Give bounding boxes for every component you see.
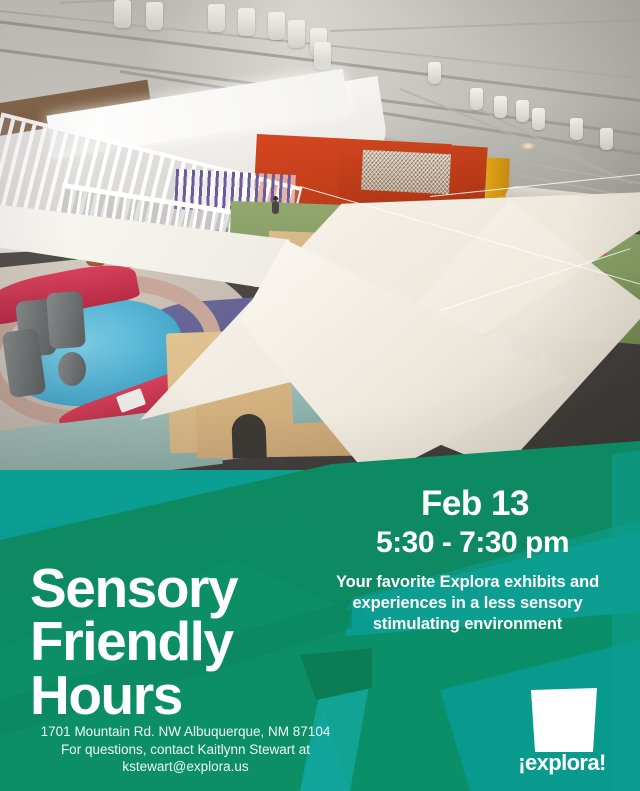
headline-line-3: Hours <box>30 669 330 722</box>
explora-logo[interactable]: ¡explora! <box>497 688 627 780</box>
explora-wordmark: ¡explora! <box>497 750 627 776</box>
hands-and-star-icon <box>497 688 627 754</box>
headline-line-1: Sensory <box>30 562 330 615</box>
event-description: Your favorite Explora exhibits and exper… <box>310 572 625 635</box>
venue-address: 1701 Mountain Rd. NW Albuquerque, NM 871… <box>8 723 363 741</box>
description-line-2: experiences in a less sensory <box>310 593 625 614</box>
contact-email[interactable]: kstewart@explora.us <box>8 758 363 776</box>
headline-line-2: Friendly <box>30 615 330 668</box>
description-line-1: Your favorite Explora exhibits and <box>310 572 625 593</box>
event-time: 5:30 - 7:30 pm <box>320 525 625 561</box>
poster-content: Sensory Friendly Hours Feb 13 5:30 - 7:3… <box>0 0 640 791</box>
page-title: Sensory Friendly Hours <box>30 562 330 722</box>
event-date: Feb 13 <box>330 484 620 524</box>
contact-block: 1701 Mountain Rd. NW Albuquerque, NM 871… <box>8 723 363 776</box>
description-line-3: stimulating environment <box>310 614 625 635</box>
contact-question-line: For questions, contact Kaitlynn Stewart … <box>8 741 363 759</box>
sensory-friendly-hours-poster: Water Flow Patio Patio Con Agua Corrient… <box>0 0 640 791</box>
